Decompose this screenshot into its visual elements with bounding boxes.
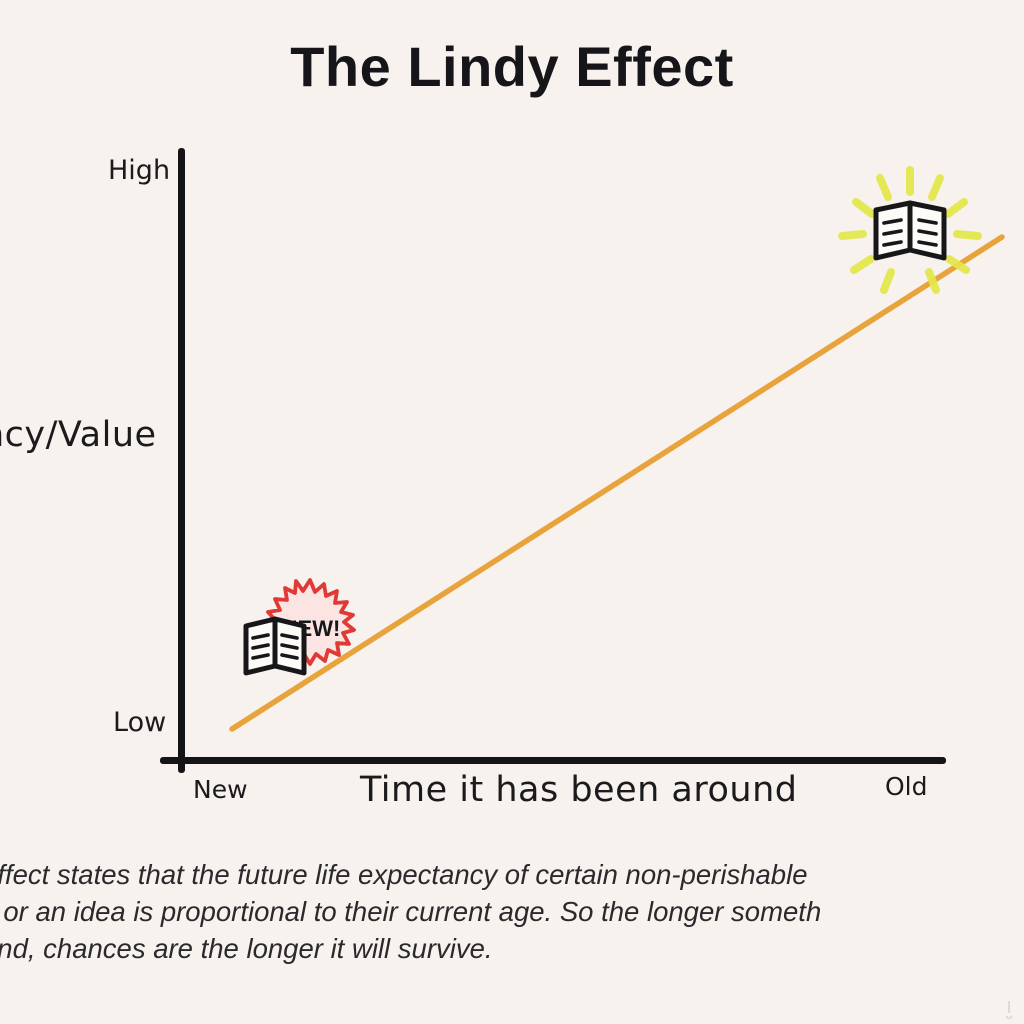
corner-mark-icon [1003,999,1017,1019]
caption-line-1: effect states that the future life expec… [0,856,1024,893]
x-axis-new-label: New [193,775,248,804]
new-item-annotation: NEW! [238,578,388,690]
caption-line-3: und, chances are the longer it will surv… [0,930,1024,967]
old-item-annotation [828,162,993,300]
open-book-icon [876,203,944,258]
x-axis-line [160,757,946,764]
x-axis-old-label: Old [885,772,928,801]
x-axis-title: Time it has been around [360,770,798,810]
chart-canvas: The Lindy Effect High Low New Old ncy/Va… [0,0,1024,1024]
y-axis-low-label: Low [113,707,166,738]
open-book-icon [246,619,304,673]
page-title: The Lindy Effect [0,34,1024,99]
y-axis-title: ncy/Value [0,415,157,455]
y-axis-high-label: High [108,155,170,186]
caption-line-2: y or an idea is proportional to their cu… [0,893,1024,930]
caption-block: effect states that the future life expec… [0,856,1024,967]
y-axis-line [178,148,185,773]
